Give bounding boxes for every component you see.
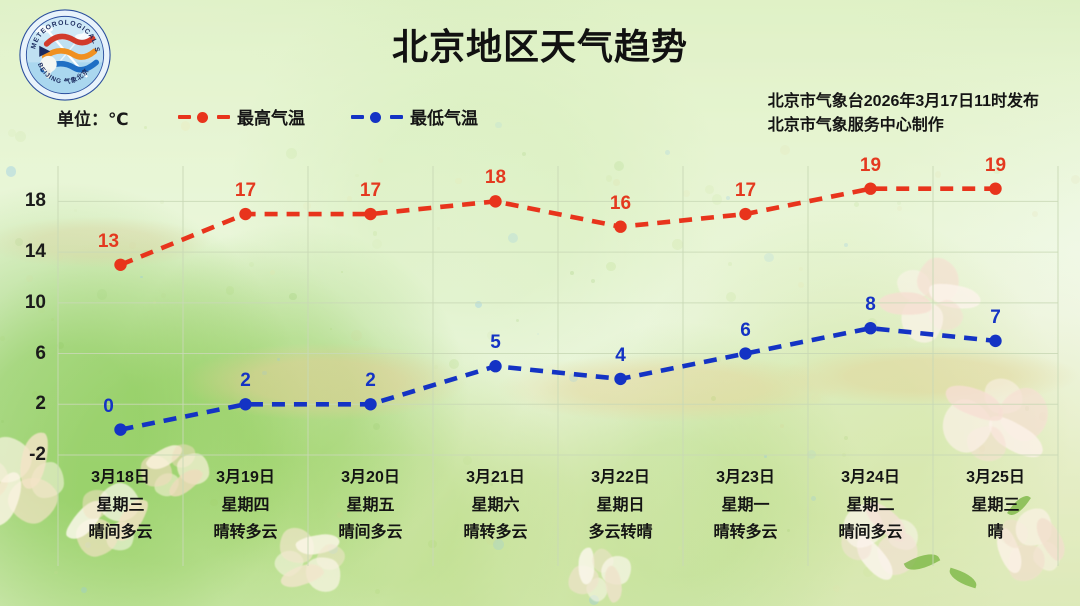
y-axis-tick-label: 6 xyxy=(0,343,46,365)
data-point-low xyxy=(364,398,376,410)
x-axis-date-label: 3月25日 xyxy=(933,464,1058,492)
x-axis-date-label: 3月20日 xyxy=(308,464,433,492)
data-point-low xyxy=(489,360,501,372)
x-axis-condition-label: 晴 xyxy=(933,519,1058,547)
value-label-high: 13 xyxy=(98,231,119,253)
value-label-high: 19 xyxy=(860,155,881,177)
x-axis-column-2: 3月19日星期四晴转多云 xyxy=(183,464,308,547)
data-point-high xyxy=(614,221,626,233)
x-axis-condition-label: 晴转多云 xyxy=(683,519,808,547)
data-point-low xyxy=(114,423,126,435)
x-axis-column-7: 3月24日星期二晴间多云 xyxy=(808,464,933,547)
value-label-high: 17 xyxy=(235,180,256,202)
legend-line-icon-high xyxy=(178,111,230,123)
publisher-line-2: 北京市气象服务中心制作 xyxy=(768,114,1039,138)
data-point-low xyxy=(614,373,626,385)
value-label-low: 4 xyxy=(615,345,626,367)
data-point-high xyxy=(739,208,751,220)
y-axis-tick-label: -2 xyxy=(0,444,46,466)
x-axis-condition-label: 晴间多云 xyxy=(808,519,933,547)
value-label-high: 17 xyxy=(360,180,381,202)
legend-label-high: 最高气温 xyxy=(237,104,305,129)
value-label-low: 0 xyxy=(103,396,114,418)
page-title: 北京地区天气趋势 xyxy=(0,18,1080,70)
y-axis-tick-label: 10 xyxy=(0,292,46,314)
value-label-high: 17 xyxy=(735,180,756,202)
x-axis-weekday-label: 星期六 xyxy=(433,492,558,520)
x-axis-column-4: 3月21日星期六晴转多云 xyxy=(433,464,558,547)
x-axis-condition-label: 晴转多云 xyxy=(433,519,558,547)
value-label-low: 2 xyxy=(240,370,251,392)
chart-legend: 最高气温 最低气温 xyxy=(178,104,478,129)
unit-label: 单位：℃ xyxy=(57,105,129,130)
x-axis-weekday-label: 星期二 xyxy=(808,492,933,520)
data-point-high xyxy=(239,208,251,220)
data-point-high xyxy=(864,182,876,194)
value-label-low: 8 xyxy=(865,294,876,316)
x-axis-column-5: 3月22日星期日多云转晴 xyxy=(558,464,683,547)
x-axis-column-1: 3月18日星期三晴间多云 xyxy=(58,464,183,547)
y-axis-tick-label: 18 xyxy=(0,190,46,212)
x-axis-column-6: 3月23日星期一晴转多云 xyxy=(683,464,808,547)
x-axis-date-label: 3月19日 xyxy=(183,464,308,492)
legend-label-low: 最低气温 xyxy=(410,104,478,129)
x-axis-weekday-label: 星期日 xyxy=(558,492,683,520)
publisher-line-1: 北京市气象台2026年3月17日11时发布 xyxy=(768,90,1039,114)
x-axis-condition-label: 多云转晴 xyxy=(558,519,683,547)
x-axis-date-label: 3月23日 xyxy=(683,464,808,492)
x-axis-condition-label: 晴转多云 xyxy=(183,519,308,547)
value-label-low: 5 xyxy=(490,332,501,354)
value-label-high: 18 xyxy=(485,167,506,189)
value-label-high: 19 xyxy=(985,155,1006,177)
y-axis-tick-label: 14 xyxy=(0,241,46,263)
data-point-high xyxy=(364,208,376,220)
data-point-low xyxy=(239,398,251,410)
x-axis-condition-label: 晴间多云 xyxy=(58,519,183,547)
x-axis-date-label: 3月21日 xyxy=(433,464,558,492)
x-axis-date-label: 3月18日 xyxy=(58,464,183,492)
x-axis-weekday-label: 星期一 xyxy=(683,492,808,520)
x-axis-condition-label: 晴间多云 xyxy=(308,519,433,547)
value-label-low: 6 xyxy=(740,320,751,342)
x-axis-column-3: 3月20日星期五晴间多云 xyxy=(308,464,433,547)
x-axis-date-label: 3月22日 xyxy=(558,464,683,492)
x-axis-date-label: 3月24日 xyxy=(808,464,933,492)
publisher-info: 北京市气象台2026年3月17日11时发布 北京市气象服务中心制作 xyxy=(768,90,1039,138)
data-point-low xyxy=(989,335,1001,347)
data-point-low xyxy=(864,322,876,334)
legend-item-low: 最低气温 xyxy=(351,104,478,129)
y-axis-tick-label: 2 xyxy=(0,393,46,415)
legend-item-high: 最高气温 xyxy=(178,104,305,129)
legend-line-icon-low xyxy=(351,111,403,123)
x-axis-column-8: 3月25日星期三晴 xyxy=(933,464,1058,547)
x-axis-weekday-label: 星期三 xyxy=(58,492,183,520)
value-label-low: 2 xyxy=(365,370,376,392)
data-point-high xyxy=(114,259,126,271)
data-point-high xyxy=(989,182,1001,194)
value-label-high: 16 xyxy=(610,193,631,215)
data-point-high xyxy=(489,195,501,207)
data-point-low xyxy=(739,347,751,359)
x-axis-weekday-label: 星期三 xyxy=(933,492,1058,520)
value-label-low: 7 xyxy=(990,307,1001,329)
x-axis-weekday-label: 星期五 xyxy=(308,492,433,520)
x-axis-weekday-label: 星期四 xyxy=(183,492,308,520)
